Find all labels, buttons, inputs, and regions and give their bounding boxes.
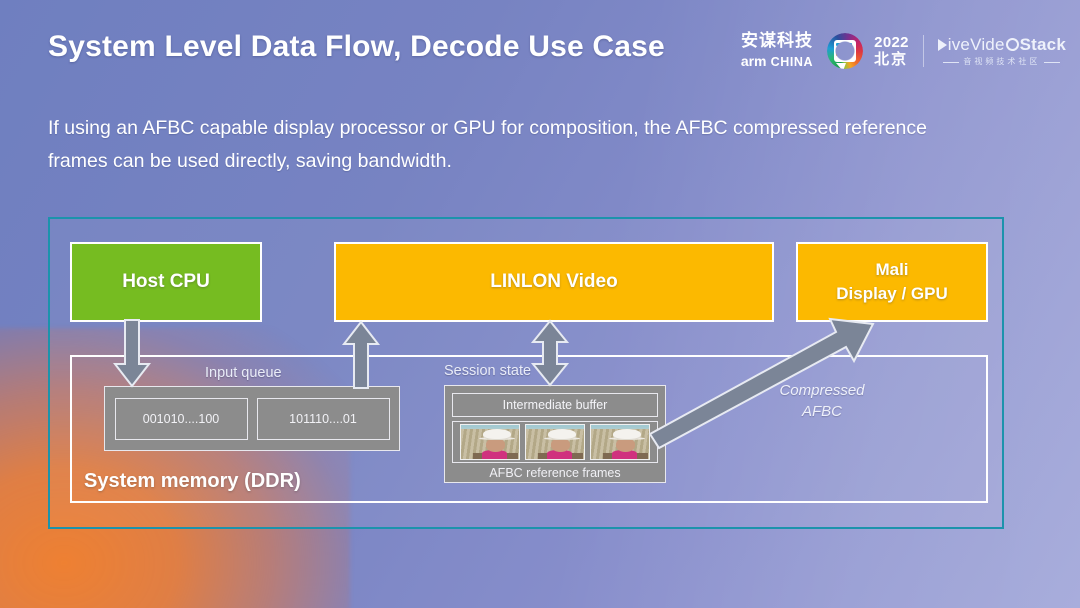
slide-title: System Level Data Flow, Decode Use Case [48, 30, 665, 64]
lvs-part-1: ive [948, 36, 970, 53]
arm-wordmark: arm [741, 53, 767, 69]
event-city: 北京 [874, 51, 909, 68]
queue-cell: 101110....01 [257, 398, 390, 440]
compressed-afbc-label: Compressed AFBC [762, 380, 882, 422]
block-mali-display-gpu: Mali Display / GPU [796, 242, 988, 322]
logo-divider [923, 35, 924, 67]
system-memory-label: System memory (DDR) [84, 470, 301, 493]
lvs-part-2: Vide [970, 36, 1005, 53]
block-host-cpu: Host CPU [70, 242, 262, 322]
lvs-part-3: Stack [1020, 36, 1066, 53]
input-queue-caption: Input queue [205, 365, 282, 381]
event-year-city: 2022 北京 [874, 34, 909, 69]
event-ring-core [834, 40, 856, 62]
reference-frames-row [452, 421, 658, 463]
arm-china-chinese-name: 安谋科技 [741, 33, 813, 50]
tagline-text: 音视频技术社区 [963, 58, 1040, 66]
block-linlon-video: LINLON Video [334, 242, 774, 322]
arm-china-logo: 安谋科技 arm CHINA [741, 33, 813, 69]
arrow-host-cpu-to-input-queue [112, 320, 152, 388]
arrow-input-queue-to-linlon [341, 320, 381, 388]
lead-paragraph: If using an AFBC capable display process… [48, 112, 988, 178]
arm-china-english-name: arm CHINA [741, 54, 813, 69]
slide-canvas: System Level Data Flow, Decode Use Case … [0, 0, 1080, 608]
tagline-rule-left [943, 62, 959, 63]
tagline-rule-right [1044, 62, 1060, 63]
input-queue-block: 001010....100 101110....01 [104, 386, 400, 451]
reference-frames-caption: AFBC reference frames [452, 466, 658, 480]
china-wordmark: CHINA [771, 55, 814, 69]
afbc-label-line-2: AFBC [762, 401, 882, 422]
livevideostack-tagline: 音视频技术社区 [943, 58, 1060, 66]
mali-line-1: Mali [836, 258, 947, 282]
queue-cell: 001010....100 [115, 398, 248, 440]
livevideostack-wordmark: ive Vide Stack [938, 36, 1066, 53]
arrow-reference-frames-to-mali [648, 312, 880, 444]
afbc-label-line-1: Compressed [762, 380, 882, 401]
session-state-caption: Session state [444, 363, 531, 379]
reference-frame-thumbnail [525, 424, 585, 460]
event-ring-icon [827, 33, 863, 69]
livevideostack-logo: ive Vide Stack 音视频技术社区 [938, 36, 1066, 66]
lvs-o-icon [1006, 38, 1019, 51]
logo-strip: 安谋科技 arm CHINA 2022 北京 [741, 27, 1066, 75]
arrow-linlon-to-session-state [530, 320, 570, 386]
intermediate-buffer: Intermediate buffer [452, 393, 658, 417]
event-year: 2022 [874, 34, 909, 51]
event-ring-tail [836, 63, 846, 71]
reference-frame-thumbnail [590, 424, 650, 460]
event-logo: 2022 北京 [827, 33, 909, 69]
mali-line-2: Display / GPU [836, 282, 947, 306]
play-triangle-icon [938, 39, 947, 51]
reference-frame-thumbnail [460, 424, 520, 460]
